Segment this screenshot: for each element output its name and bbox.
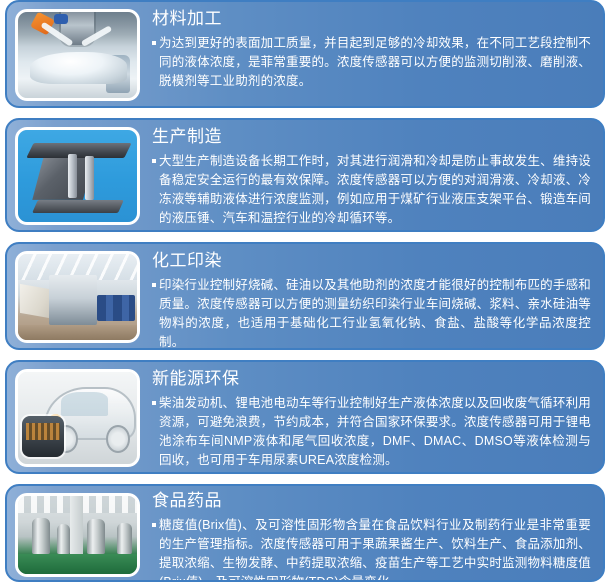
scenario-content-new-energy-environmental: 新能源环保 柴油发动机、锂电池电动车等行业控制好生产液体浓度以及回收废气循环利用… bbox=[140, 362, 603, 474]
dyeing-factory-image bbox=[18, 254, 137, 340]
scenario-card-new-energy-environmental[interactable]: 新能源环保 柴油发动机、锂电池电动车等行业控制好生产液体浓度以及回收废气循环利用… bbox=[5, 360, 605, 474]
scenario-title: 材料加工 bbox=[152, 8, 591, 30]
bullet-icon bbox=[152, 283, 156, 287]
scenario-thumbnail-food-pharmaceutical bbox=[15, 493, 140, 577]
scenario-card-chemical-dyeing[interactable]: 化工印染 印染行业控制好烧碱、硅油以及其他助剂的浓度才能很好的控制布匹的手感和质… bbox=[5, 242, 605, 350]
scenario-thumbnail-material-processing bbox=[15, 9, 140, 101]
tank-1-shape bbox=[32, 518, 50, 554]
scenario-content-production-manufacturing: 生产制造 大型生产制造设备长期工作时，对其进行润滑和冷却是防止事故发生、维持设备… bbox=[140, 120, 603, 232]
green-epoxy-floor-shape bbox=[18, 554, 137, 574]
battery-pack-shape bbox=[22, 416, 65, 456]
extraction-tanks-image bbox=[18, 496, 137, 574]
coolant-bottle-shape bbox=[106, 55, 130, 93]
car-glass-shape bbox=[61, 392, 109, 416]
machine-knob-shape bbox=[54, 14, 68, 24]
scenario-description-row: 印染行业控制好烧碱、硅油以及其他助剂的浓度才能很好的控制布匹的手感和质量。浓度传… bbox=[152, 276, 591, 350]
scenario-content-food-pharmaceutical: 食品药品 糖度值(Brix值)、及可溶性固形物含量在食品饮料行业及制药行业是非常… bbox=[140, 486, 603, 582]
coolant-spray-right-shape bbox=[81, 25, 113, 47]
tank-2-shape bbox=[57, 524, 70, 554]
platform-canopy-shape bbox=[26, 143, 131, 158]
scenario-description: 印染行业控制好烧碱、硅油以及其他助剂的浓度才能很好的控制布匹的手感和质量。浓度传… bbox=[159, 276, 591, 350]
dye-vats-shape bbox=[97, 295, 135, 321]
scenario-title: 化工印染 bbox=[152, 250, 591, 272]
scenario-description-row: 大型生产制造设备长期工作时，对其进行润滑和冷却是防止事故发生、维持设备稳定安全运… bbox=[152, 152, 591, 228]
scenario-thumbnail-chemical-dyeing bbox=[15, 251, 140, 343]
scenario-title: 新能源环保 bbox=[152, 368, 591, 390]
factory-floor-shape bbox=[18, 325, 137, 340]
car-wheel-rear-shape bbox=[106, 425, 130, 453]
application-scenarios-list: 材料加工 为达到更好的表面加工质量，并目起到足够的冷却效果，在不同工艺段控制不同… bbox=[0, 0, 610, 567]
platform-base-shape bbox=[32, 200, 123, 213]
hydraulic-ram-right-shape bbox=[85, 156, 95, 200]
scenario-thumbnail-production-manufacturing bbox=[15, 127, 140, 225]
tank-3-shape bbox=[87, 519, 105, 553]
scenario-content-chemical-dyeing: 化工印染 印染行业控制好烧碱、硅油以及其他助剂的浓度才能很好的控制布匹的手感和质… bbox=[140, 244, 603, 350]
scenario-content-material-processing: 材料加工 为达到更好的表面加工质量，并目起到足够的冷却效果，在不同工艺段控制不同… bbox=[140, 2, 603, 97]
bullet-icon bbox=[152, 41, 156, 45]
scenario-card-production-manufacturing[interactable]: 生产制造 大型生产制造设备长期工作时，对其进行润滑和冷却是防止事故发生、维持设备… bbox=[5, 118, 605, 232]
scenario-title: 生产制造 bbox=[152, 126, 591, 148]
scenario-description: 大型生产制造设备长期工作时，对其进行润滑和冷却是防止事故发生、维持设备稳定安全运… bbox=[159, 152, 591, 228]
scenario-description: 为达到更好的表面加工质量，并目起到足够的冷却效果，在不同工艺段控制不同的液体浓度… bbox=[159, 34, 591, 91]
hydraulic-platform-image bbox=[18, 130, 137, 222]
scenario-description-row: 柴油发动机、锂电池电动车等行业控制好生产液体浓度以及回收废气循环利用资源，可避免… bbox=[152, 394, 591, 470]
bullet-icon bbox=[152, 159, 156, 163]
milling-machine-image bbox=[18, 12, 137, 98]
scenario-description-row: 为达到更好的表面加工质量，并目起到足够的冷却效果，在不同工艺段控制不同的液体浓度… bbox=[152, 34, 591, 91]
electric-vehicle-image bbox=[18, 372, 137, 464]
tank-4-shape bbox=[117, 523, 132, 554]
scenario-description: 糖度值(Brix值)、及可溶性固形物含量在食品饮料行业及制药行业是非常重要的生产… bbox=[159, 516, 591, 582]
scenario-title: 食品药品 bbox=[152, 490, 591, 512]
scenario-card-food-pharmaceutical[interactable]: 食品药品 糖度值(Brix值)、及可溶性固形物含量在食品饮料行业及制药行业是非常… bbox=[5, 484, 605, 582]
scenario-description-row: 糖度值(Brix值)、及可溶性固形物含量在食品饮料行业及制药行业是非常重要的生产… bbox=[152, 516, 591, 582]
scenario-card-material-processing[interactable]: 材料加工 为达到更好的表面加工质量，并目起到足够的冷却效果，在不同工艺段控制不同… bbox=[5, 0, 605, 108]
scenario-thumbnail-new-energy-environmental bbox=[15, 369, 140, 467]
bullet-icon bbox=[152, 523, 156, 527]
bullet-icon bbox=[152, 401, 156, 405]
hydraulic-ram-left-shape bbox=[68, 154, 78, 198]
scenario-description: 柴油发动机、锂电池电动车等行业控制好生产液体浓度以及回收废气循环利用资源，可避免… bbox=[159, 394, 591, 470]
dyeing-machine-shape bbox=[49, 275, 97, 325]
plant-column-shape bbox=[70, 496, 83, 554]
